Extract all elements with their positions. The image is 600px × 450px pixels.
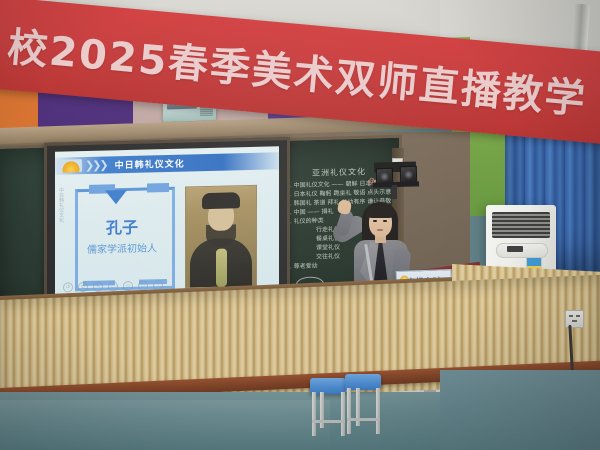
stool-leg bbox=[341, 392, 345, 436]
pen-icon[interactable]: ✎ bbox=[93, 282, 103, 292]
ac-display bbox=[507, 246, 523, 252]
teacher-eye-left bbox=[373, 220, 377, 222]
classroom-scene: 亚洲礼仪文化 1. 中国礼仪文化 —— 朝鲜 日本 韩国 2. 日本礼仪 鞠躬 … bbox=[0, 0, 600, 450]
chevron-right-icon: ❯❯❯ bbox=[85, 158, 107, 172]
floor-sheen bbox=[0, 400, 330, 450]
portrait-sash bbox=[216, 249, 227, 287]
speaker-cone bbox=[380, 172, 389, 181]
ac-air-outlet-grille bbox=[492, 212, 550, 238]
outlet-slot bbox=[576, 315, 580, 317]
confucius-portrait bbox=[185, 185, 257, 289]
stool-leg bbox=[312, 392, 316, 436]
teacher-fringe bbox=[367, 205, 394, 218]
slide-header-bar: ❯❯❯ 中日韩礼仪文化 bbox=[55, 152, 279, 174]
slide-main-heading: 孔子 bbox=[75, 213, 169, 239]
triangle-icon bbox=[105, 190, 127, 205]
outlet-slot bbox=[572, 320, 577, 322]
portrait-hat bbox=[202, 192, 240, 209]
speaker-cone bbox=[404, 170, 413, 179]
slide-logo-icon bbox=[60, 159, 82, 173]
floor-right bbox=[440, 370, 600, 450]
slide-header-title: 中日韩礼仪文化 bbox=[115, 157, 185, 172]
outlet-slot bbox=[569, 315, 573, 317]
slide-frame-tab-right bbox=[147, 183, 169, 193]
stool-leg bbox=[376, 388, 380, 434]
slide-side-note: 中日韩礼仪文化 bbox=[56, 188, 64, 223]
teacher-eye-right bbox=[383, 220, 387, 222]
slide-subheading: 儒家学派初始人 bbox=[71, 239, 173, 256]
eraser-icon[interactable]: □ bbox=[108, 281, 118, 291]
stool-rail bbox=[347, 418, 380, 421]
teacher-mouth bbox=[377, 229, 383, 231]
redo-icon[interactable]: ↻ bbox=[78, 282, 88, 292]
projected-slide[interactable]: ❯❯❯ 中日韩礼仪文化 中日韩礼仪文化 孔子 儒家学派初始人 ↺ ↻ bbox=[55, 146, 279, 297]
undo-icon[interactable]: ↺ bbox=[63, 282, 73, 292]
stool-leg bbox=[347, 388, 351, 434]
stool-rail bbox=[312, 420, 345, 423]
